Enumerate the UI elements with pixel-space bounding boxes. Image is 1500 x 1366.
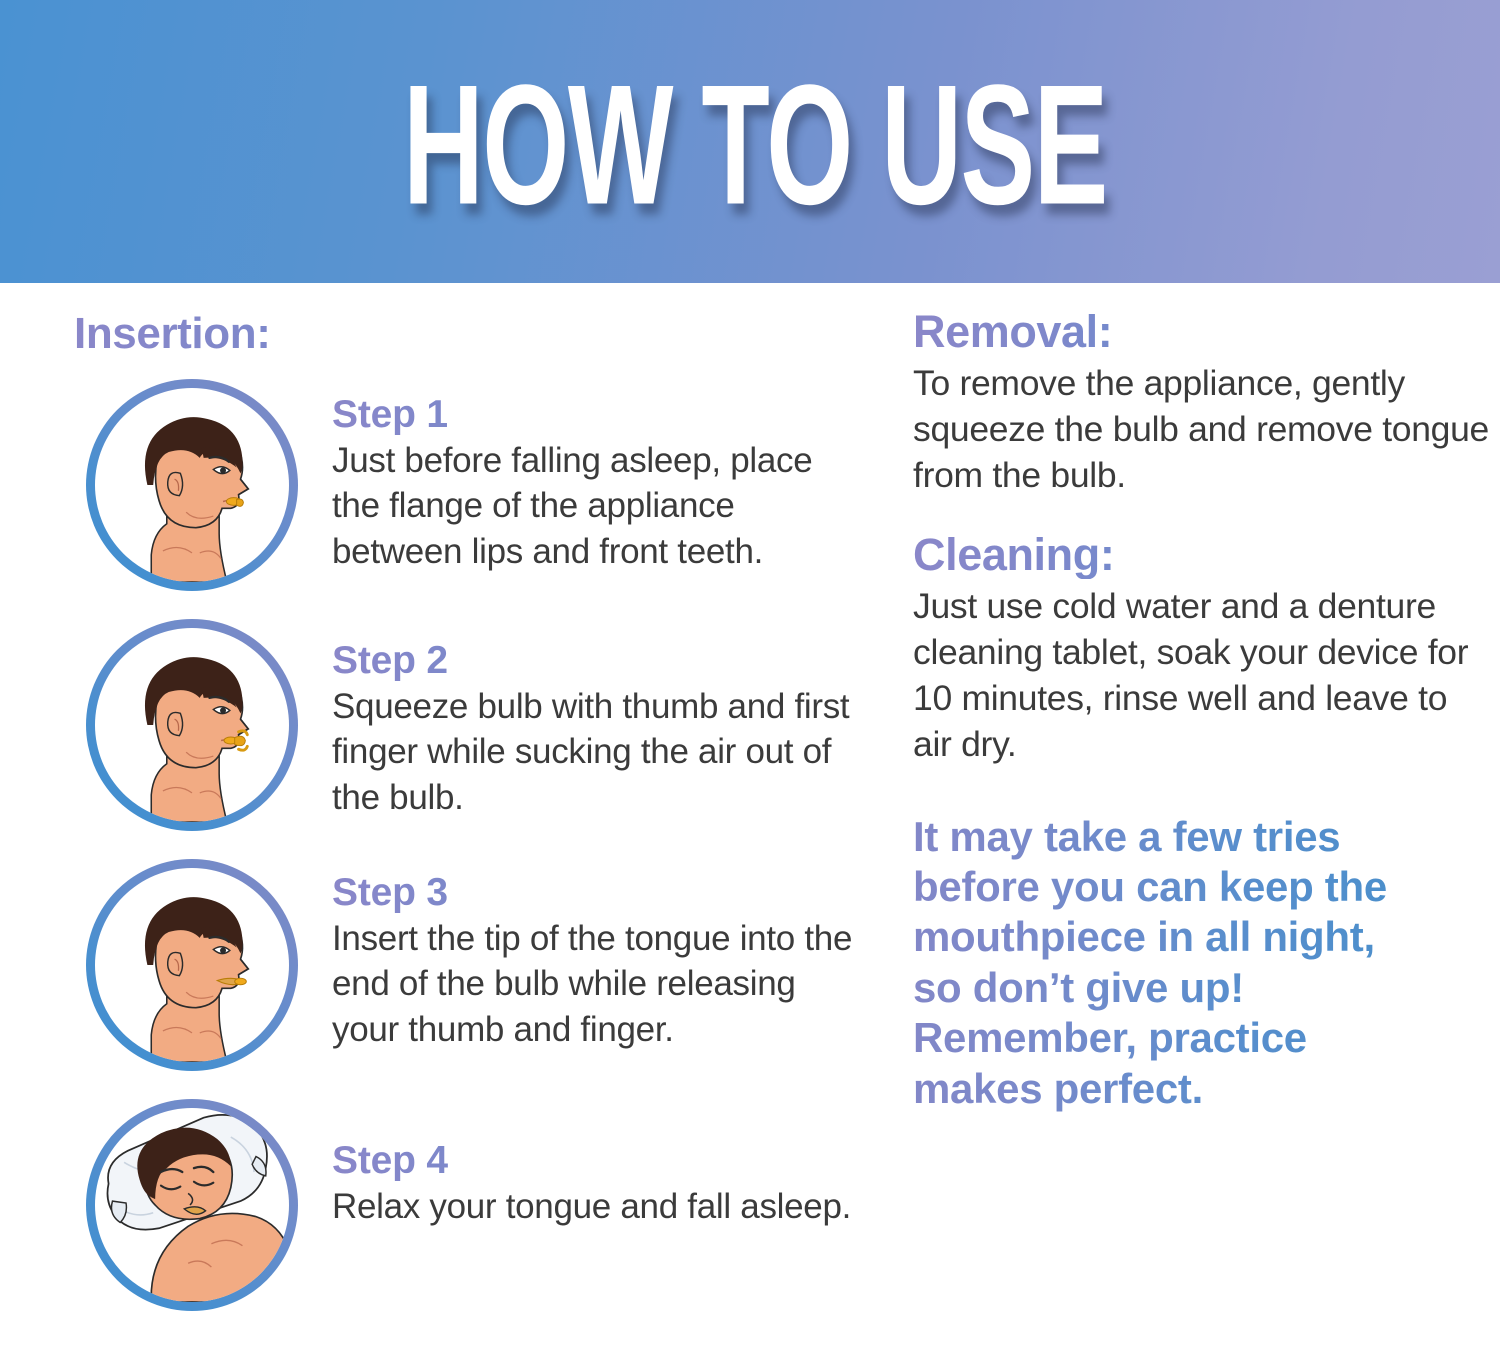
step-1-illustration-wrap bbox=[74, 373, 310, 609]
step-label: Step 3 bbox=[332, 873, 864, 914]
profile-head-device-in-mouth-icon bbox=[95, 388, 289, 582]
step-4-illustration-wrap bbox=[74, 1093, 310, 1313]
gradient-ring bbox=[86, 1099, 298, 1311]
removal-description: To remove the appliance, gently squeeze … bbox=[913, 360, 1493, 498]
step-1-text-block: Step 1 Just before falling asleep, place… bbox=[310, 373, 864, 574]
page-title: HOW TO USE bbox=[403, 59, 1107, 230]
step-label: Step 1 bbox=[332, 395, 864, 436]
closing-note: It may take a few tries before you can k… bbox=[913, 812, 1413, 1114]
step-label: Step 2 bbox=[332, 641, 864, 682]
list-item: Step 1 Just before falling asleep, place… bbox=[74, 373, 864, 609]
step-2-text-block: Step 2 Squeeze bulb with thumb and first… bbox=[310, 613, 864, 820]
cleaning-heading: Cleaning: bbox=[913, 532, 1493, 579]
removal-heading: Removal: bbox=[913, 309, 1493, 356]
step-description: Just before falling asleep, place the fl… bbox=[332, 438, 864, 575]
cleaning-description: Just use cold water and a denture cleani… bbox=[913, 583, 1493, 768]
gradient-ring bbox=[86, 379, 298, 591]
removal-cleaning-column: Removal: To remove the appliance, gently… bbox=[913, 309, 1493, 1156]
step-description: Insert the tip of the tongue into the en… bbox=[332, 916, 864, 1053]
step-2-illustration-wrap bbox=[74, 613, 310, 849]
person-sleeping-on-pillow-icon bbox=[95, 1108, 289, 1302]
insertion-column: Insertion: bbox=[74, 311, 864, 1313]
page-header: HOW TO USE bbox=[0, 0, 1500, 283]
profile-head-squeezing-bulb-icon bbox=[95, 628, 289, 822]
content-area: Insertion: bbox=[0, 283, 1500, 1366]
list-item: Step 3 Insert the tip of the tongue into… bbox=[74, 853, 864, 1089]
insertion-heading: Insertion: bbox=[74, 311, 864, 357]
step-3-text-block: Step 3 Insert the tip of the tongue into… bbox=[310, 853, 864, 1052]
step-3-illustration-wrap bbox=[74, 853, 310, 1089]
list-item: Step 2 Squeeze bulb with thumb and first… bbox=[74, 613, 864, 849]
list-item: Step 4 Relax your tongue and fall asleep… bbox=[74, 1093, 864, 1313]
step-4-text-block: Step 4 Relax your tongue and fall asleep… bbox=[310, 1093, 864, 1229]
profile-head-tongue-in-bulb-icon bbox=[95, 868, 289, 1062]
steps-list: Step 1 Just before falling asleep, place… bbox=[74, 373, 864, 1313]
step-label: Step 4 bbox=[332, 1141, 864, 1182]
gradient-ring bbox=[86, 859, 298, 1071]
gradient-ring bbox=[86, 619, 298, 831]
step-description: Relax your tongue and fall asleep. bbox=[332, 1184, 864, 1230]
step-description: Squeeze bulb with thumb and first finger… bbox=[332, 684, 864, 821]
